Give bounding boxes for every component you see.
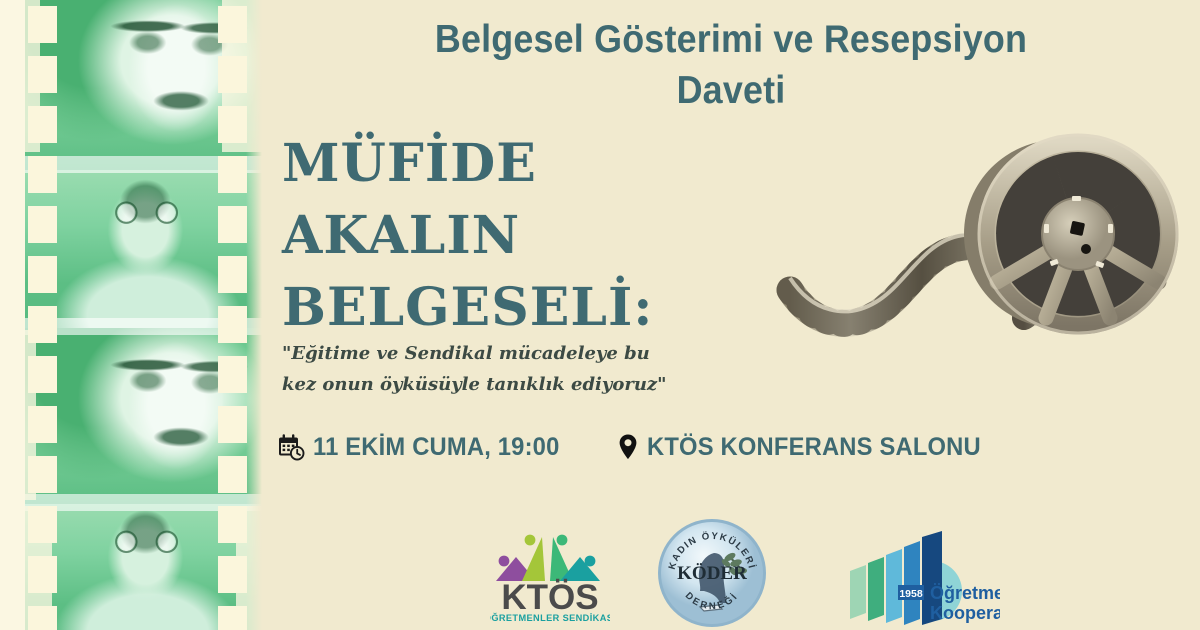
sprocket-hole	[218, 556, 247, 593]
ktos-subtitle: ÖĞRETMENLER SENDİKASI	[490, 612, 610, 623]
kooperatifi-logo-icon: 1958 Öğretmenler Kooperatifi	[846, 527, 1002, 627]
poster-headline: Belgesel Gösterimi ve Resepsiyon Daveti	[300, 14, 1163, 116]
title-line-1: MÜFİDE	[282, 128, 712, 200]
kooperatifi-line-2: Kooperatifi	[930, 603, 1002, 623]
sprocket-hole	[218, 6, 247, 43]
right-edge-mask	[1000, 500, 1200, 630]
quote-line-1: "Eğitime ve Sendikal mücadeleye bu	[282, 338, 702, 369]
event-venue-text: KTÖS KONFERANS SALONU	[647, 433, 981, 462]
sprocket-hole	[28, 506, 57, 543]
filmstrip	[0, 0, 262, 630]
logo-ogretmenler-kooperatifi: 1958 Öğretmenler Kooperatifi	[846, 527, 1002, 627]
event-venue-item: KTÖS KONFERANS SALONU	[616, 432, 998, 462]
map-pin-icon	[616, 432, 640, 462]
event-details: 11 EKİM CUMA, 19:00 KTÖS KONFERANS SALON…	[276, 425, 976, 469]
poster-title: MÜFİDE AKALIN BELGESELİ:	[282, 128, 712, 344]
sprocket-hole	[28, 206, 57, 243]
sprocket-hole	[28, 606, 57, 630]
sprocket-hole	[28, 56, 57, 93]
film-reel-illustration	[772, 118, 1200, 350]
calendar-clock-icon	[276, 432, 306, 462]
event-date-text: 11 EKİM CUMA, 19:00	[313, 433, 559, 462]
sprocket-hole	[28, 6, 57, 43]
sprocket-hole	[218, 106, 247, 143]
event-date-item: 11 EKİM CUMA, 19:00	[276, 432, 572, 462]
sprocket-hole	[218, 256, 247, 293]
sprocket-hole	[218, 206, 247, 243]
film-reel-icon	[772, 118, 1200, 350]
sprocket-hole	[218, 506, 247, 543]
logo-koder: KADIN ÖYKÜLERİ DERNEĞİ KÖDER	[656, 517, 768, 629]
sprocket-hole	[28, 456, 57, 493]
title-line-2: AKALIN	[282, 200, 712, 272]
sprocket-hole	[218, 56, 247, 93]
koder-wordmark: KÖDER	[677, 563, 747, 584]
sprocket-hole	[28, 106, 57, 143]
sprocket-hole	[218, 606, 247, 630]
filmstrip-edge-fade	[246, 0, 262, 630]
logo-ktos: KTÖS ÖĞRETMENLER SENDİKASI	[490, 527, 610, 625]
film-left-margin	[0, 0, 25, 630]
sprocket-hole	[28, 556, 57, 593]
sprocket-hole	[218, 156, 247, 193]
headline-line-2: Daveti	[300, 65, 1163, 116]
poster-quote: "Eğitime ve Sendikal mücadeleye bu kez o…	[282, 338, 702, 400]
title-line-3: BELGESELİ:	[282, 272, 712, 344]
sprocket-hole	[28, 356, 57, 393]
quote-line-2: kez onun öyküsüyle tanıklık ediyoruz"	[282, 369, 702, 400]
sprocket-hole	[218, 356, 247, 393]
kooperatifi-year: 1958	[899, 588, 923, 600]
koder-logo-icon: KADIN ÖYKÜLERİ DERNEĞİ KÖDER	[656, 517, 768, 629]
ktos-logo-icon: KTÖS ÖĞRETMENLER SENDİKASI	[490, 527, 610, 625]
headline-line-1: Belgesel Gösterimi ve Resepsiyon	[300, 14, 1163, 65]
kooperatifi-line-1: Öğretmenler	[930, 583, 1002, 603]
sprocket-hole	[28, 306, 57, 343]
sprocket-hole	[28, 256, 57, 293]
sprocket-hole	[28, 406, 57, 443]
sprocket-hole	[28, 156, 57, 193]
sprocket-hole	[218, 456, 247, 493]
ktos-wordmark: KTÖS	[501, 578, 598, 617]
sprocket-hole	[218, 306, 247, 343]
sprocket-hole	[218, 406, 247, 443]
film-frame	[24, 170, 262, 328]
older-woman-with-glasses-portrait	[24, 170, 262, 328]
event-poster: Belgesel Gösterimi ve Resepsiyon Daveti …	[0, 0, 1200, 630]
